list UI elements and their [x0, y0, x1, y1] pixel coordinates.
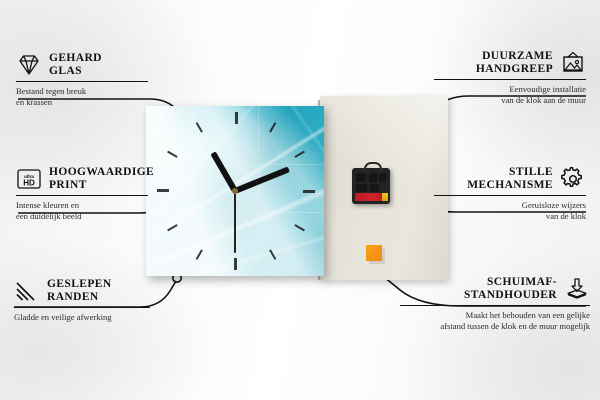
callout-title-line1: HOOGWAARDIGE — [49, 166, 154, 179]
callout-title-line2: GLAS — [49, 65, 102, 78]
callout-title-line1: GEHARD — [49, 52, 102, 65]
foam-spacer — [366, 245, 382, 261]
callout-title-line1: DUURZAME — [476, 50, 553, 63]
callout-desc-line2: van de klok — [434, 211, 586, 222]
callout-desc-line1: Bestand tegen breuk — [16, 86, 148, 97]
hour-hand — [210, 151, 237, 192]
beveled-edges-icon — [14, 279, 40, 303]
callout-desc-line2: van de klok aan de muur — [434, 95, 586, 106]
callout-rule — [16, 195, 148, 196]
clock-tick — [167, 151, 178, 158]
callout-rule — [14, 307, 150, 308]
callout-desc-line2: een duidelijk beeld — [16, 211, 148, 222]
callout-geslepen-randen: GESLEPEN RANDEN Gladde en veilige afwerk… — [14, 278, 150, 323]
art-streak — [152, 118, 324, 237]
callout-desc-line1: Intense kleuren en — [16, 200, 148, 211]
clock-tick — [269, 122, 276, 133]
callout-schuimafstandhouder: SCHUIMAF- STANDHOUDER Maakt het behouden… — [400, 276, 590, 331]
mechanism-detail — [369, 173, 377, 182]
gear-icon — [560, 167, 586, 191]
art-grid-line — [146, 164, 324, 165]
ultra-hd-icon: ultra HD — [16, 167, 42, 191]
callout-desc-line2: afstand tussen de klok en de muur mogeli… — [400, 321, 590, 332]
picture-frame-icon — [560, 51, 586, 75]
clock-mechanism — [352, 168, 390, 204]
clock-tick — [294, 151, 305, 158]
product-infographic: GEHARD GLAS Bestand tegen breuk en krass… — [0, 0, 600, 400]
clock-tick — [303, 190, 315, 193]
clock-face — [146, 106, 324, 276]
callout-desc-line2: en krassen — [16, 97, 148, 108]
diamond-icon — [16, 53, 42, 77]
callout-desc-line1: Gladde en veilige afwerking — [14, 312, 150, 323]
art-grid-line — [258, 106, 259, 276]
clock-tick — [294, 224, 305, 231]
mechanism-detail — [370, 184, 379, 192]
callout-title-line1: GESLEPEN — [47, 278, 112, 291]
foam-spacer-icon — [564, 277, 590, 301]
callout-hoogwaardige-print: ultra HD HOOGWAARDIGE PRINT Intense kleu… — [16, 166, 148, 221]
callout-title-line2: HANDGREEP — [476, 63, 553, 76]
svg-text:HD: HD — [23, 179, 35, 188]
callout-stille-mechanisme: STILLE MECHANISME Geruisloze wijzers van… — [434, 166, 586, 221]
mechanism-detail — [356, 173, 366, 182]
glass-wall-clock — [146, 106, 326, 280]
callout-desc-line1: Geruisloze wijzers — [434, 200, 586, 211]
clock-tick — [234, 258, 237, 270]
callout-title-line2: STANDHOUDER — [464, 289, 557, 302]
clock-tick — [196, 122, 203, 133]
battery — [355, 193, 387, 201]
clock-tick — [196, 249, 203, 260]
callout-title-line1: SCHUIMAF- — [464, 276, 557, 289]
mechanism-detail — [379, 173, 386, 182]
callout-title-line1: STILLE — [467, 166, 553, 179]
clock-tick — [235, 112, 238, 124]
callout-desc-line1: Maakt het behouden van een gelijke — [400, 310, 590, 321]
callout-rule — [400, 305, 590, 306]
callout-rule — [434, 79, 586, 80]
callout-title-line2: PRINT — [49, 179, 154, 192]
callout-title-line2: MECHANISME — [467, 179, 553, 192]
callout-duurzame-handgreep: DUURZAME HANDGREEP Eenvoudige installati… — [434, 50, 586, 105]
art-grid-line — [192, 106, 193, 276]
callout-title-line2: RANDEN — [47, 291, 112, 304]
callout-rule — [434, 195, 586, 196]
hand-cap — [232, 188, 238, 194]
clock-tick — [157, 189, 169, 192]
callout-gehard-glas: GEHARD GLAS Bestand tegen breuk en krass… — [16, 52, 148, 107]
callout-rule — [16, 81, 148, 82]
callout-desc-line1: Eenvoudige installatie — [434, 84, 586, 95]
mechanism-detail — [356, 184, 367, 192]
second-hand — [234, 191, 236, 253]
